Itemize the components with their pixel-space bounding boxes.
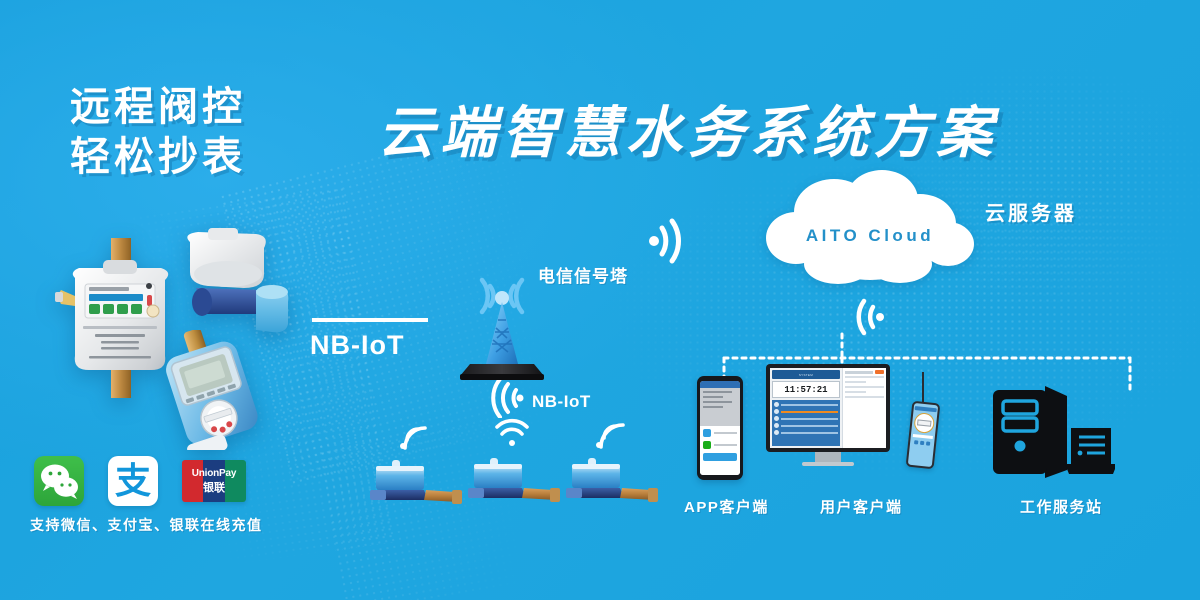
meter-reader-button[interactable] (920, 441, 924, 445)
row-bar (781, 432, 838, 434)
tower-label: 电信信号塔 (538, 262, 628, 287)
table-row (774, 409, 838, 414)
unionpay-text-bottom: 银联 (203, 479, 225, 495)
blue-water-meter-icon (368, 452, 464, 514)
detail-row (845, 396, 884, 398)
phone-confirm-button[interactable] (703, 453, 737, 461)
nbiot-secondary-label: NB-IoT (532, 392, 591, 412)
list-item (703, 429, 737, 437)
monitor-right-header (845, 370, 884, 374)
table-row (774, 430, 838, 435)
payment-logos: 支 UnionPay 银联 (34, 456, 246, 506)
table-row (774, 423, 838, 428)
wifi-signal-icon (480, 378, 524, 418)
row-bar (781, 404, 838, 406)
headline-block: 远程阀控 轻松抄表 (70, 82, 246, 182)
meter-reader-screen (908, 403, 938, 467)
monitor-base (802, 462, 854, 466)
detail-row (845, 381, 867, 383)
smartphone-meter-reader-icon (906, 401, 941, 470)
phone-form-line (703, 391, 732, 393)
page-title: 云端智慧水务系统方案 (378, 88, 998, 169)
row-bar (781, 418, 838, 420)
device-icon (774, 416, 779, 421)
detail-row (845, 386, 884, 388)
device-label-app: APP客户端 (684, 496, 769, 517)
smartphone-icon (697, 376, 743, 480)
unionpay-text: UnionPay 银联 (182, 460, 246, 502)
list-item-line (714, 432, 737, 434)
wifi-signal-icon (396, 420, 430, 451)
detail-row (845, 376, 884, 378)
list-item (703, 441, 737, 449)
meter-reader-buttons (914, 440, 930, 446)
meter-reader-bar (913, 434, 932, 439)
header-bar (845, 371, 873, 374)
nbiot-primary-label: NB-IoT (310, 330, 404, 361)
device-icon (774, 409, 779, 414)
monitor-clock: 11:57:21 (772, 381, 840, 398)
phone-form-area (700, 388, 740, 426)
signal-tower-icon (452, 272, 552, 384)
meter-reader-button[interactable] (914, 440, 918, 444)
device-icon (774, 430, 779, 435)
payment-caption: 支持微信、支付宝、银联在线充值 (30, 515, 263, 535)
monitor-titlebar-text: SYSTEM (799, 373, 813, 377)
phone-pay-list (700, 426, 740, 475)
table-row (774, 402, 838, 407)
monitor-screen: SYSTEM 11:57:21 (766, 364, 890, 452)
wifi-signal-icon (646, 218, 698, 264)
device-icon (774, 402, 779, 407)
meter-reading-display (917, 419, 932, 426)
row-bar (781, 411, 838, 413)
wechat-pay-icon (703, 429, 711, 437)
meter-reader-titlebar (915, 406, 937, 412)
alipay-glyph: 支 (115, 463, 151, 499)
unionpay-text-top: UnionPay (192, 468, 237, 479)
headline-line-1: 远程阀控 (70, 82, 246, 132)
phone-form-line (703, 401, 732, 403)
alipay-logo: 支 (108, 456, 158, 506)
monitor-action-button[interactable] (875, 370, 884, 374)
phone-form-line (703, 396, 723, 398)
desktop-monitor-icon: SYSTEM 11:57:21 (766, 364, 890, 480)
monitor-left-pane: SYSTEM 11:57:21 (770, 368, 842, 448)
device-icon (774, 423, 779, 428)
smart-lcd-water-meter-icon (160, 330, 270, 450)
poster-canvas: 远程阀控 轻松抄表 云端智慧水务系统方案 AITO Cloud 云服务器 (0, 0, 1200, 600)
phone-form-line (703, 406, 723, 408)
wifi-signal-icon (494, 416, 530, 449)
detail-row (845, 391, 867, 393)
blue-water-meter-icon (466, 450, 562, 512)
wechat-pay-logo (34, 456, 84, 506)
device-label-user: 用户客户端 (820, 496, 903, 517)
monitor-stand (815, 452, 841, 462)
row-bar (781, 425, 838, 427)
monitor-titlebar: SYSTEM (772, 370, 840, 379)
phone-status-bar (700, 381, 740, 388)
cloud-label: AITO Cloud (760, 226, 980, 246)
blue-water-meter-icon (564, 450, 660, 512)
smartphone-screen (700, 381, 740, 475)
alipay-icon (703, 441, 711, 449)
headline-line-2: 轻松抄表 (70, 132, 246, 182)
wifi-signal-icon (845, 298, 887, 336)
wifi-signal-icon (592, 418, 628, 451)
cloud-icon: AITO Cloud (760, 168, 980, 288)
unionpay-logo: UnionPay 银联 (182, 460, 246, 502)
cloud-server-label: 云服务器 (985, 197, 1077, 226)
server-workstation-icon (985, 382, 1115, 482)
monitor-ui: SYSTEM 11:57:21 (770, 368, 886, 448)
water-meter-dial-icon (913, 412, 935, 434)
meter-reader-button[interactable] (926, 441, 930, 445)
device-label-workstation: 工作服务站 (1020, 496, 1103, 517)
table-row (774, 416, 838, 421)
monitor-right-pane (842, 368, 886, 448)
monitor-device-list (772, 400, 840, 446)
list-item-line (714, 444, 737, 446)
